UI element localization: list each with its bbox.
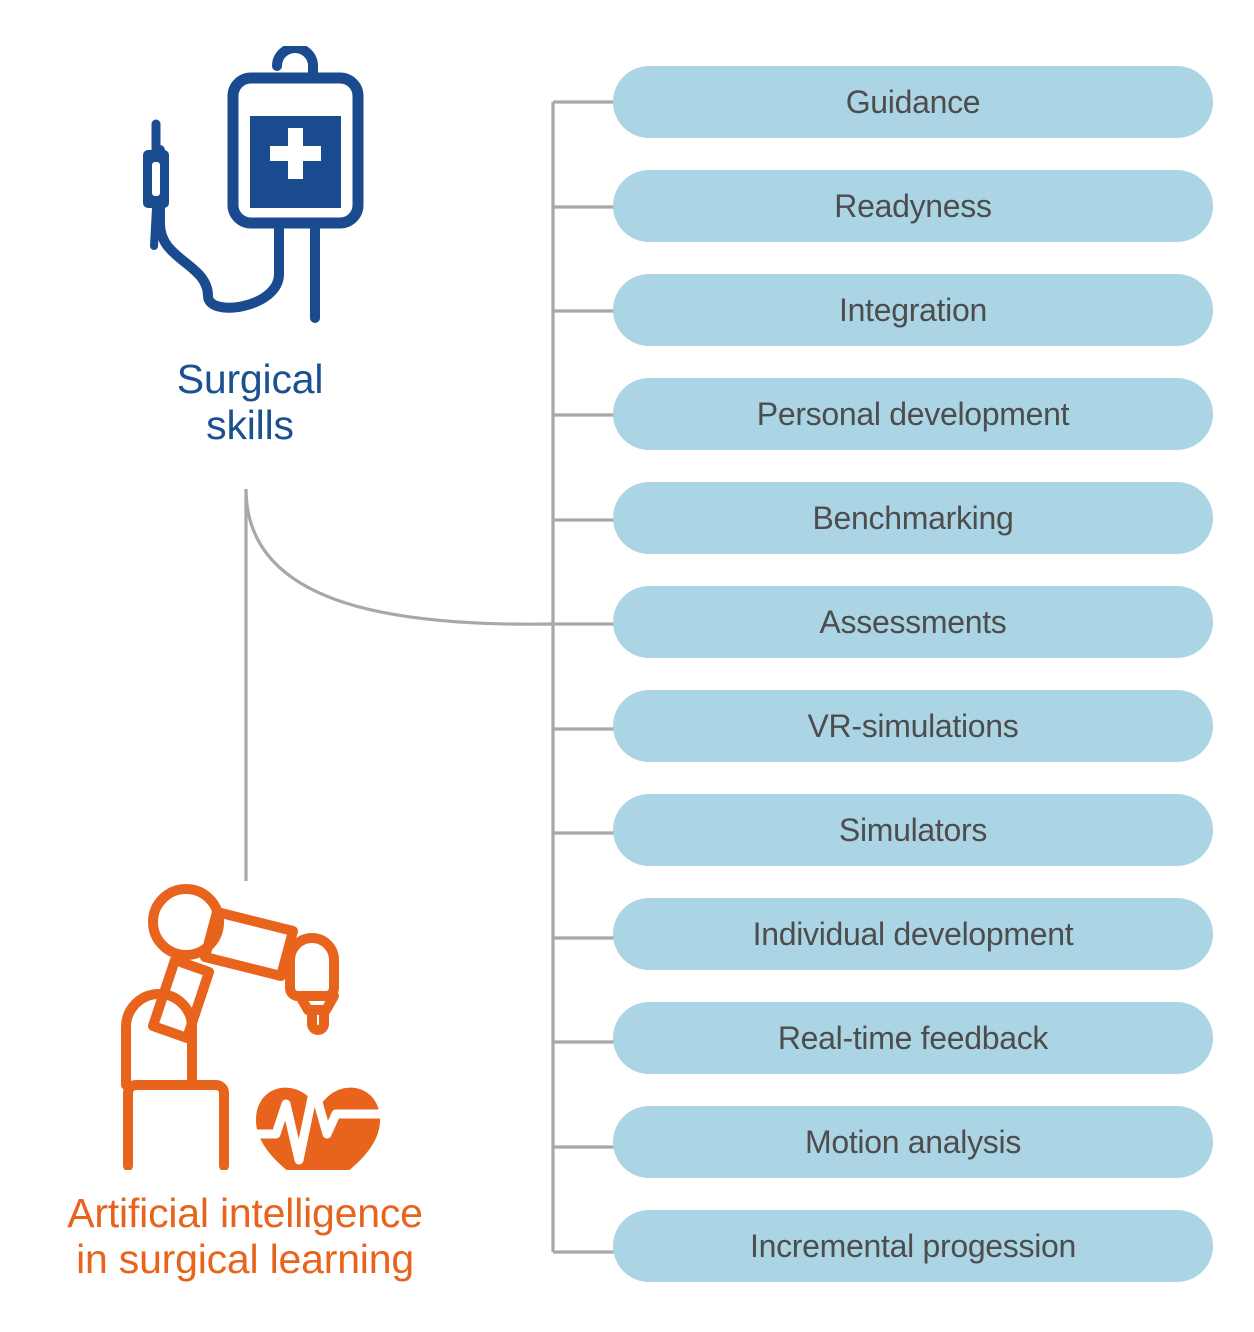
node-artificial-intelligence-label-line-1: Artificial intelligence [10, 1191, 480, 1237]
pill-list: Guidance Readyness Integration Personal … [613, 66, 1213, 1282]
node-surgical-skills-label-line-1: Surgical [60, 357, 440, 403]
pill-label: Readyness [834, 190, 991, 222]
pill-label: Integration [839, 294, 987, 326]
pill-label: VR-simulations [808, 710, 1019, 742]
pill-label: Simulators [839, 814, 987, 846]
node-artificial-intelligence-label-line-2: in surgical learning [10, 1237, 480, 1283]
pill-readyness[interactable]: Readyness [613, 170, 1213, 242]
pill-label: Real-time feedback [778, 1022, 1048, 1054]
node-surgical-skills-label-line-2: skills [60, 403, 440, 449]
pill-integration[interactable]: Integration [613, 274, 1213, 346]
pill-benchmarking[interactable]: Benchmarking [613, 482, 1213, 554]
pill-guidance[interactable]: Guidance [613, 66, 1213, 138]
pill-label: Motion analysis [805, 1126, 1021, 1158]
pill-label: Assessments [820, 606, 1007, 638]
pill-simulators[interactable]: Simulators [613, 794, 1213, 866]
robotic-arm-with-heart-pulse-icon [10, 880, 480, 1175]
pill-label: Benchmarking [813, 502, 1014, 534]
node-artificial-intelligence-label: Artificial intelligence in surgical lear… [10, 1191, 480, 1283]
curved-connector-path [246, 489, 553, 624]
iv-drip-bag-medical-cross-icon [60, 46, 440, 341]
pill-label: Incremental progession [750, 1230, 1076, 1262]
pill-motion-analysis[interactable]: Motion analysis [613, 1106, 1213, 1178]
pill-label: Individual development [753, 918, 1074, 950]
pill-real-time-feedback[interactable]: Real-time feedback [613, 1002, 1213, 1074]
pill-label: Guidance [846, 86, 981, 118]
pill-individual-development[interactable]: Individual development [613, 898, 1213, 970]
diagram-canvas: Surgical skills [0, 0, 1254, 1332]
pill-label: Personal development [757, 398, 1069, 430]
pill-assessments[interactable]: Assessments [613, 586, 1213, 658]
node-surgical-skills[interactable]: Surgical skills [60, 46, 440, 449]
pill-personal-development[interactable]: Personal development [613, 378, 1213, 450]
pill-vr-simulations[interactable]: VR-simulations [613, 690, 1213, 762]
pill-incremental-progession[interactable]: Incremental progession [613, 1210, 1213, 1282]
node-artificial-intelligence[interactable]: Artificial intelligence in surgical lear… [10, 880, 480, 1283]
node-surgical-skills-label: Surgical skills [60, 357, 440, 449]
